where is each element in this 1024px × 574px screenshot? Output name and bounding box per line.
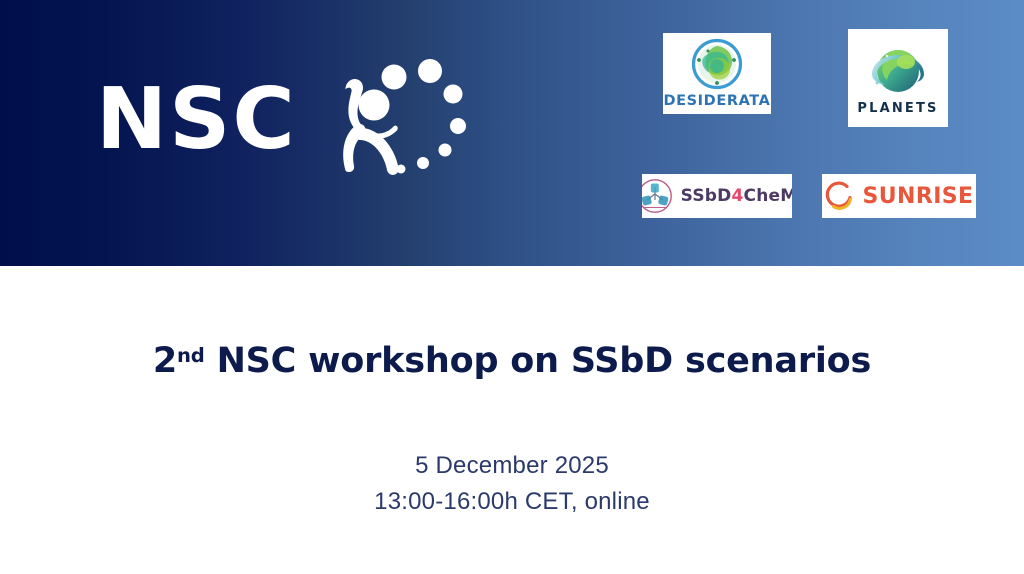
planets-ringed-planet-icon xyxy=(864,41,932,99)
page-title: 2nd NSC workshop on SSbD scenarios xyxy=(0,341,1024,381)
ssbd4chem-text-part-2: CheM xyxy=(744,186,792,206)
event-date: 5 December 2025 xyxy=(0,448,1024,484)
sunrise-open-circle-icon xyxy=(825,181,855,211)
ssbd4chem-logo-text: SSbD4CheM xyxy=(681,186,792,206)
planets-logo-inner: PLANETS xyxy=(857,41,938,116)
title-ordinal-suffix: nd xyxy=(177,344,205,367)
event-time-location: 13:00-16:00h CET, online xyxy=(0,484,1024,520)
desiderata-logo-inner: DESIDERATA xyxy=(664,38,771,109)
ssbd4chem-logo-inner: SSbD4CheM xyxy=(642,178,792,214)
partner-logo-planets[interactable]: PLANETS xyxy=(848,29,948,127)
desiderata-molecule-ring-icon xyxy=(686,38,748,92)
partner-logo-ssbd4chem[interactable]: SSbD4CheM xyxy=(642,174,792,218)
ssbd4chem-circle-molecule-icon xyxy=(642,178,673,214)
sunrise-logo-inner: SUNRISE xyxy=(825,181,974,211)
nsc-brand-lockup: NSC xyxy=(96,58,475,180)
ssbd4chem-text-accent: 4 xyxy=(731,186,743,206)
planets-logo-text: PLANETS xyxy=(857,101,938,116)
event-details: 5 December 2025 13:00-16:00h CET, online xyxy=(0,448,1024,520)
title-rest: NSC workshop on SSbD scenarios xyxy=(205,341,872,381)
ssbd4chem-text-part-1: SSbD xyxy=(681,186,732,206)
partner-logo-desiderata[interactable]: DESIDERATA xyxy=(663,33,771,114)
partner-logo-sunrise[interactable]: SUNRISE xyxy=(822,174,976,218)
slide-root: NSC xyxy=(0,0,1024,574)
title-number: 2 xyxy=(153,341,177,381)
sunrise-logo-text: SUNRISE xyxy=(863,184,974,209)
desiderata-logo-text: DESIDERATA xyxy=(664,93,771,109)
nsc-figure-dots-icon xyxy=(325,58,475,180)
nsc-wordmark: NSC xyxy=(96,77,297,162)
